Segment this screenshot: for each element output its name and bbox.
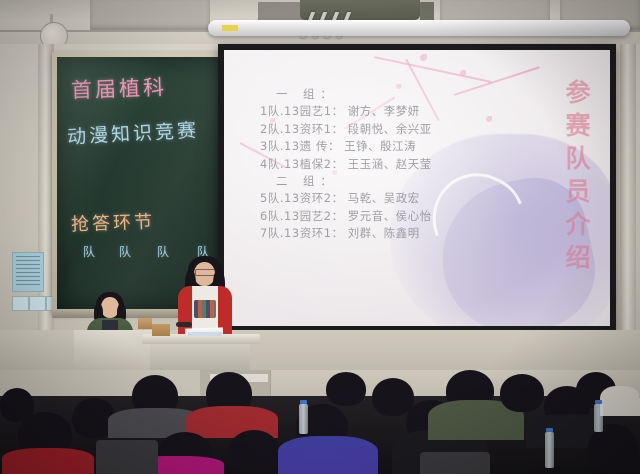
chalk-text-section: 抢答环节: [71, 208, 156, 237]
slide-entry: 6队.13园艺2： 罗元音、侯心怡: [260, 208, 510, 225]
microphone: [176, 322, 192, 327]
slide-entry: 2队.13资环1： 段朝悦、余兴亚: [260, 121, 510, 138]
shirt-graphic: [194, 300, 216, 318]
ceiling-air-conditioner: [300, 0, 420, 20]
projector-screen-frame: 一 组： 1队.13园艺1： 谢方、李梦妍 2队.13资环1： 段朝悦、余兴亚 …: [218, 44, 616, 336]
audience-shoulder: [278, 436, 378, 474]
bottle-cap: [546, 428, 553, 432]
cardboard-box: [152, 324, 170, 336]
blue-notice-poster: [12, 252, 44, 292]
slide-vertical-title: 参赛队员介绍: [562, 76, 596, 274]
slide-roster-text: 一 组： 1队.13园艺1： 谢方、李梦妍 2队.13资环1： 段朝悦、余兴亚 …: [260, 86, 510, 243]
chalk-text-title: 首届植科: [71, 71, 168, 104]
desk-box: [138, 318, 152, 329]
slide-entry: 1队.13园艺1： 谢方、李梦妍: [260, 103, 510, 120]
projector-screen: 一 组： 1队.13园艺1： 谢方、李梦妍 2队.13资环1： 段朝悦、余兴亚 …: [224, 50, 610, 326]
chair-back: [96, 440, 158, 474]
slide-entry: 4队.13植保2： 王玉涵、赵天莹: [260, 156, 510, 173]
water-bottle: [299, 404, 308, 434]
audience-head: [500, 374, 544, 412]
wall-pillar: [620, 44, 636, 374]
chalk-team-mark: 队: [83, 243, 95, 260]
water-bottle: [545, 432, 554, 468]
audience-head: [228, 430, 280, 474]
bottle-cap: [595, 400, 602, 404]
slide-entry: 3队.13遗 传： 王铮、殷江涛: [260, 138, 510, 155]
wall-card: [29, 296, 46, 311]
audience-head: [0, 388, 34, 422]
screen-roller-housing[interactable]: [208, 20, 630, 36]
chalk-team-mark: 队: [119, 243, 131, 260]
chair-back: [420, 452, 490, 474]
paper-sheet: [188, 332, 222, 336]
bottle-cap: [300, 400, 307, 404]
audience-shoulder: [2, 448, 94, 474]
audience-head: [372, 378, 414, 416]
slide-group2-label: 二 组：: [260, 173, 510, 190]
slide-entry: 5队.13资环2： 马乾、吴政宏: [260, 190, 510, 207]
audience-shoulder: [600, 386, 640, 416]
audience-head: [326, 372, 366, 406]
ceiling-panel: [90, 0, 210, 31]
roller-label: [222, 25, 238, 31]
chalk-team-mark: 队: [157, 243, 169, 260]
classroom-photo-scene: 首届植科 动漫知识竞赛 抢答环节 队 队 队 队: [0, 0, 640, 474]
wall-card: [12, 296, 29, 311]
slide-entry: 7队.13资环1： 刘群、陈鑫明: [260, 225, 510, 242]
slide-group1-label: 一 组：: [260, 86, 510, 103]
water-bottle: [594, 404, 603, 432]
